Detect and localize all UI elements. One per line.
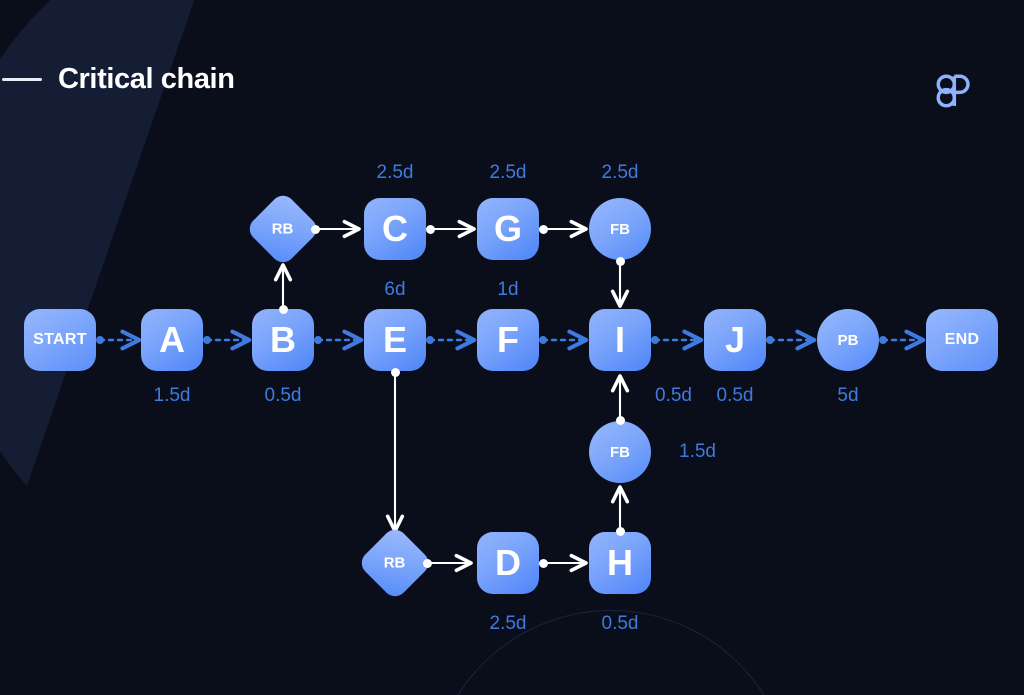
duration-label-f: 1d [497,279,518,301]
node-c[interactable]: C [364,198,426,260]
duration-label-h: 0.5d [602,613,639,635]
connector-dot [311,225,320,234]
connector-dot [616,527,625,536]
connector-dot [96,336,104,344]
node-start[interactable]: START [24,309,96,371]
node-e[interactable]: E [364,309,426,371]
branch-edges [283,229,620,563]
duration-label-b: 0.5d [265,385,302,407]
node-label: F [497,322,519,358]
connector-dot [539,225,548,234]
node-label: J [725,322,745,358]
duration-label-a: 1.5d [154,385,191,407]
node-fb2[interactable]: FB [589,421,651,483]
node-label: D [495,545,521,581]
node-label: A [159,322,185,358]
duration-label-pb: 5d [837,385,858,407]
connector-dot [279,305,288,314]
duration-label-fb2: 1.5d [679,441,716,463]
critical-chain-canvas: Critical chain [0,0,1024,695]
node-label: END [945,332,980,348]
connector-dot [766,336,774,344]
node-label: G [494,211,522,247]
node-label: FB [610,222,630,237]
connector-dot [879,336,887,344]
node-label: E [383,322,407,358]
node-label: I [615,322,625,358]
node-fb1[interactable]: FB [589,198,651,260]
connector-dot [651,336,659,344]
node-label: C [382,211,408,247]
node-i[interactable]: I [589,309,651,371]
node-d[interactable]: D [477,532,539,594]
node-label: RB [272,221,294,236]
duration-label-c: 2.5d [377,162,414,184]
connector-dot [203,336,211,344]
node-h[interactable]: H [589,532,651,594]
node-pb[interactable]: PB [817,309,879,371]
connector-dot [426,336,434,344]
connector-dot [314,336,322,344]
node-j[interactable]: J [704,309,766,371]
duration-label-i: 0.5d [655,385,692,407]
duration-label-e: 6d [384,279,405,301]
node-end[interactable]: END [926,309,998,371]
node-label: PB [838,333,859,348]
node-label: FB [610,445,630,460]
node-label: B [270,322,296,358]
node-g[interactable]: G [477,198,539,260]
node-b[interactable]: B [252,309,314,371]
node-a[interactable]: A [141,309,203,371]
duration-label-d: 2.5d [490,613,527,635]
connector-dot [426,225,435,234]
connector-dot [539,336,547,344]
node-f[interactable]: F [477,309,539,371]
connector-dot [391,368,400,377]
node-label: RB [384,555,406,570]
duration-label-g: 2.5d [490,162,527,184]
duration-label-fb1: 2.5d [602,162,639,184]
node-label: H [607,545,633,581]
connector-dot [616,257,625,266]
connector-dot [423,559,432,568]
duration-label-j: 0.5d [717,385,754,407]
connector-dot [539,559,548,568]
connector-dot [616,416,625,425]
node-label: START [33,332,87,348]
